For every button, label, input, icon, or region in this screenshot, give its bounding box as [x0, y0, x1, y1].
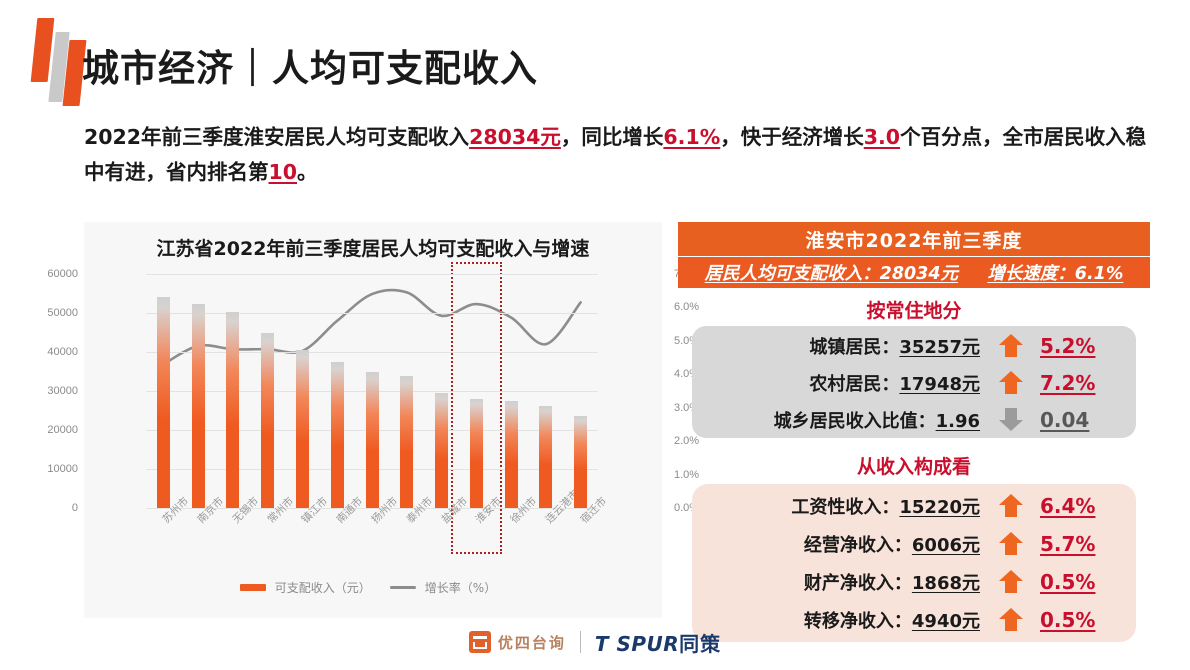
- arrow-up-icon: [996, 493, 1026, 519]
- chart-bar: [539, 406, 552, 508]
- chart-bar: [400, 376, 413, 508]
- chart-bar: [192, 304, 205, 508]
- y-axis-tick-left: 60000: [18, 268, 78, 280]
- legend-label-growth: 增长率（%）: [425, 579, 496, 596]
- residence-stats-group: 城镇居民：35257元5.2%农村居民：17948元7.2%城乡居民收入比值：1…: [692, 326, 1136, 438]
- y-axis-tick-left: 30000: [18, 385, 78, 397]
- footer-divider: [580, 631, 581, 653]
- chart-bar: [331, 362, 344, 508]
- stat-row-label: 财产净收入：1868元: [692, 569, 984, 595]
- y-axis-tick-left: 40000: [18, 346, 78, 358]
- stat-row-arrow: [984, 333, 1038, 359]
- summary-highlight-gap: 3.0: [864, 125, 900, 149]
- panel-header-title: 淮安市2022年前三季度: [678, 222, 1150, 256]
- arrow-up-icon: [996, 531, 1026, 557]
- page-title: 城市经济｜人均可支配收入: [82, 38, 538, 92]
- stat-row-label: 经营净收入：6006元: [692, 531, 984, 557]
- brand-tospur: T SPUR同策: [595, 628, 721, 657]
- stat-row: 农村居民：17948元7.2%: [692, 364, 1136, 402]
- chart-bar: [574, 416, 587, 508]
- summary-paragraph: 2022年前三季度淮安居民人均可支配收入28034元，同比增长6.1%，快于经济…: [84, 120, 1154, 191]
- chart-bar: [226, 312, 239, 508]
- arrow-up-icon: [996, 333, 1026, 359]
- arrow-up-icon: [996, 569, 1026, 595]
- panel-subheader: 居民人均可支配收入：28034元 增长速度：6.1%: [678, 257, 1150, 288]
- arrow-down-icon: [996, 407, 1026, 433]
- three-bars-logo-icon: [28, 14, 90, 106]
- chart-bar: [261, 333, 274, 508]
- stat-label-text: 农村居民：: [809, 374, 899, 395]
- stat-label-text: 城镇居民：: [809, 337, 899, 358]
- summary-seg-1: 2022年前三季度淮安居民人均可支配收入: [84, 125, 469, 149]
- stat-label-number: 1.96: [936, 411, 980, 432]
- stat-label-text: 经营净收入：: [804, 535, 912, 556]
- stat-label-text: 财产净收入：: [804, 573, 912, 594]
- legend-swatch-income: [240, 584, 266, 591]
- stat-row-label: 农村居民：17948元: [692, 370, 984, 396]
- arrow-up-icon: [996, 370, 1026, 396]
- stat-label-number: 1868元: [912, 573, 980, 594]
- chart-bar: [470, 399, 483, 508]
- footer-branding: 优四台询 T SPUR同策: [0, 622, 1190, 662]
- legend-label-income: 可支配收入（元）: [275, 579, 371, 596]
- stat-row-arrow: [984, 370, 1038, 396]
- page-header: 城市经济｜人均可支配收入 2022年前三季度淮安居民人均可支配收入28034元，…: [0, 0, 1190, 118]
- stat-row-value: 5.2%: [1038, 334, 1134, 358]
- stat-row-value: 0.04: [1038, 408, 1134, 432]
- y-axis-tick-left: 10000: [18, 463, 78, 475]
- summary-highlight-income: 28034元: [469, 125, 561, 149]
- chart-bar: [296, 350, 309, 508]
- chart-bar: [366, 372, 379, 509]
- stat-row: 城乡居民收入比值：1.960.04: [692, 401, 1136, 439]
- y-axis-tick-left: 20000: [18, 424, 78, 436]
- stat-row: 财产净收入：1868元0.5%: [692, 563, 1136, 601]
- legend-swatch-growth: [390, 586, 416, 589]
- chart-gridline: [146, 313, 598, 314]
- stat-row-arrow: [984, 569, 1038, 595]
- stat-row-value: 7.2%: [1038, 371, 1134, 395]
- panel-subheader-income: 居民人均可支配收入：28034元: [705, 260, 958, 285]
- chart-bar: [435, 393, 448, 508]
- summary-highlight-rank: 10: [269, 160, 298, 184]
- section-title-residence: 按常住地分: [678, 296, 1150, 323]
- summary-highlight-growth: 6.1%: [663, 125, 720, 149]
- brand-tospur-cn: 同策: [679, 632, 721, 656]
- stat-row-value: 0.5%: [1038, 570, 1134, 594]
- chart-plot-area: 01000020000300004000050000600000.0%1.0%2…: [146, 274, 598, 508]
- brand-tospur-en: T SPUR: [595, 632, 679, 656]
- stat-row-label: 城乡居民收入比值：1.96: [692, 407, 984, 433]
- brand-youju-label: 优四台询: [498, 632, 566, 653]
- chart-legend: 可支配收入（元） 增长率（%）: [84, 579, 662, 596]
- chart-gridline: [146, 274, 598, 275]
- stat-label-number: 17948元: [899, 374, 980, 395]
- stat-row-arrow: [984, 493, 1038, 519]
- statistics-panel: 淮安市2022年前三季度 居民人均可支配收入：28034元 增长速度：6.1% …: [678, 222, 1150, 622]
- section-title-composition: 从收入构成看: [678, 452, 1150, 479]
- summary-seg-2: ，同比增长: [561, 125, 664, 149]
- stat-label-number: 15220元: [899, 497, 980, 518]
- stat-row: 工资性收入：15220元6.4%: [692, 487, 1136, 525]
- chart-gridline: [146, 352, 598, 353]
- chart-card: 江苏省2022年前三季度居民人均可支配收入与增速 010000200003000…: [84, 222, 662, 618]
- y-axis-tick-left: 0: [18, 502, 78, 514]
- brand-youju: 优四台询: [469, 631, 566, 653]
- stat-row-label: 工资性收入：15220元: [692, 493, 984, 519]
- youju-logo-icon: [469, 631, 491, 653]
- stat-label-number: 6006元: [912, 535, 980, 556]
- stat-row: 经营净收入：6006元5.7%: [692, 525, 1136, 563]
- summary-seg-3: ，快于经济增长: [720, 125, 864, 149]
- stat-label-number: 35257元: [899, 337, 980, 358]
- stat-row-arrow: [984, 407, 1038, 433]
- stat-row-value: 6.4%: [1038, 494, 1134, 518]
- y-axis-tick-left: 50000: [18, 307, 78, 319]
- stat-label-text: 工资性收入：: [791, 497, 899, 518]
- composition-stats-group: 工资性收入：15220元6.4%经营净收入：6006元5.7%财产净收入：186…: [692, 484, 1136, 642]
- summary-seg-5: 。: [297, 160, 318, 184]
- stat-row-arrow: [984, 531, 1038, 557]
- chart-bar: [505, 401, 518, 508]
- chart-bar: [157, 297, 170, 508]
- panel-subheader-growth: 增长速度：6.1%: [987, 260, 1123, 285]
- stat-row-label: 城镇居民：35257元: [692, 333, 984, 359]
- stat-row-value: 5.7%: [1038, 532, 1134, 556]
- stat-row: 城镇居民：35257元5.2%: [692, 327, 1136, 365]
- chart-title: 江苏省2022年前三季度居民人均可支配收入与增速: [84, 234, 662, 261]
- stat-label-text: 城乡居民收入比值：: [774, 411, 936, 432]
